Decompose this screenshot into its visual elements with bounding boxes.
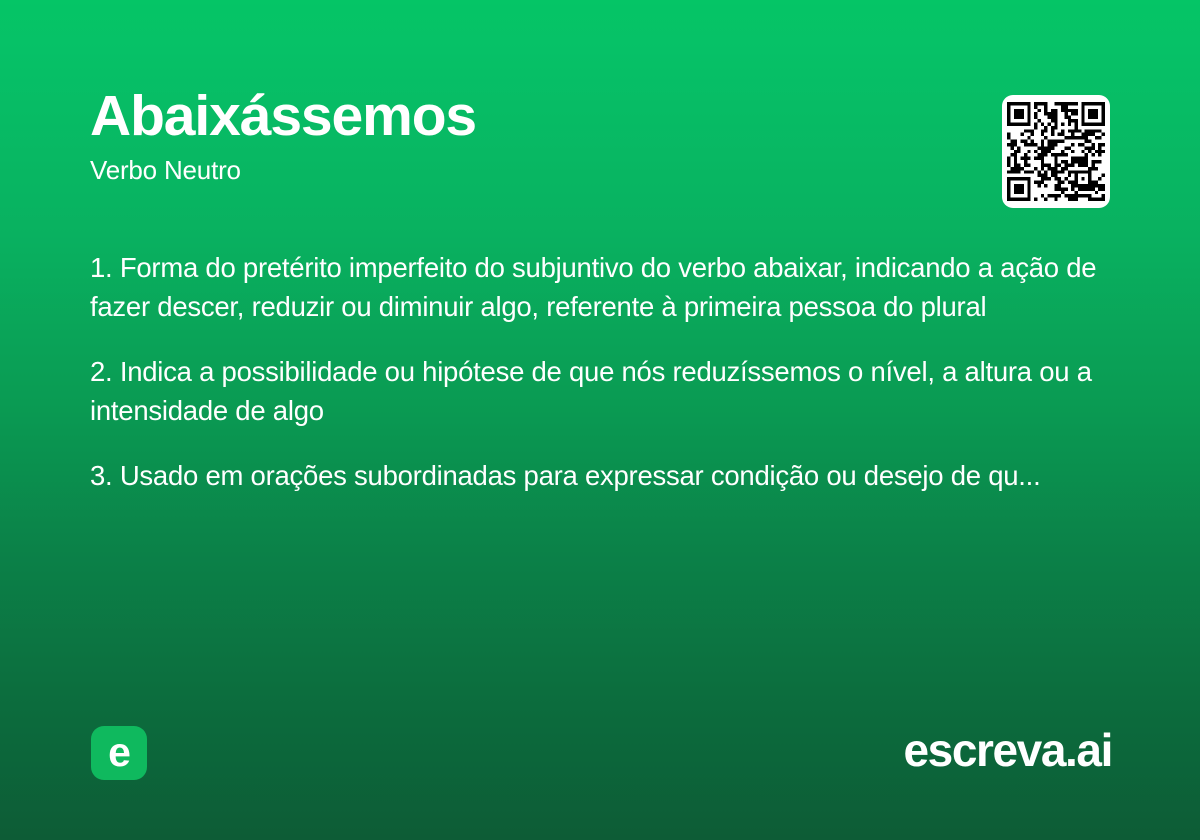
qr-code-icon — [1007, 102, 1105, 201]
brand-logo-letter: e — [91, 726, 147, 780]
dictionary-card: Abaixássemos Verbo Neutro 1. Forma do pr… — [0, 0, 1200, 840]
definition-list: 1. Forma do pretérito imperfeito do subj… — [90, 248, 1100, 495]
card-header: Abaixássemos Verbo Neutro — [90, 84, 1110, 186]
definition-item: 1. Forma do pretérito imperfeito do subj… — [90, 248, 1100, 326]
qr-code-card[interactable] — [1002, 95, 1110, 208]
definition-item: 3. Usado em orações subordinadas para ex… — [90, 456, 1100, 495]
brand-logo-badge[interactable]: e — [91, 726, 147, 780]
page-title: Abaixássemos — [90, 84, 1110, 148]
definition-item: 2. Indica a possibilidade ou hipótese de… — [90, 352, 1100, 430]
brand-wordmark: escreva.ai — [903, 722, 1112, 778]
word-class-subtitle: Verbo Neutro — [90, 148, 1110, 186]
